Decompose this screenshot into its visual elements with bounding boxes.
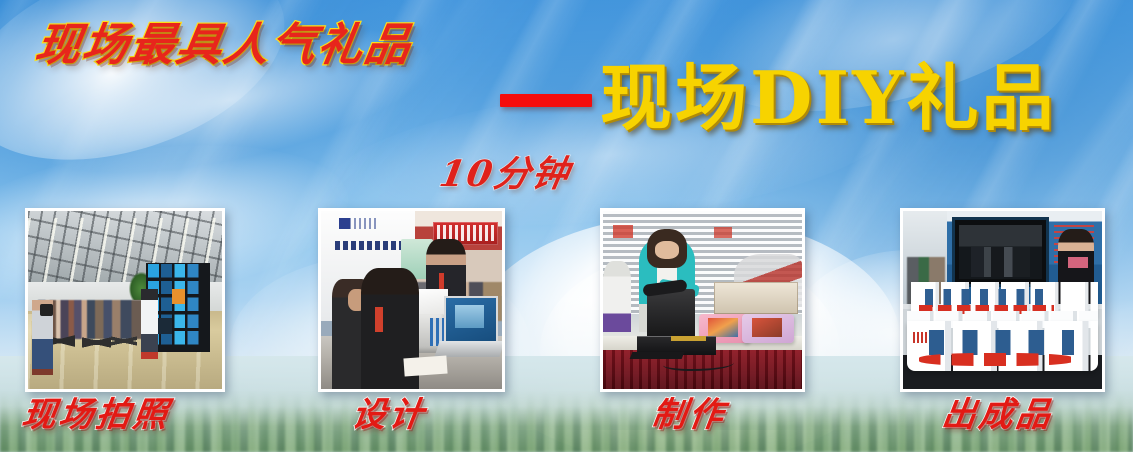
photo-inner	[321, 211, 502, 389]
tv-screen-people	[971, 247, 1031, 277]
tripod-2	[82, 314, 111, 371]
operator-face	[655, 241, 679, 259]
production-photo	[600, 208, 805, 392]
step-caption-production: 制作	[650, 398, 729, 432]
heat-press-body	[647, 289, 695, 339]
mug-red-graphic-front	[919, 353, 1074, 365]
step-caption-design: 设计	[350, 398, 429, 432]
step-caption-photography: 现场拍照	[20, 398, 173, 432]
bystander	[603, 261, 631, 332]
finished-product-photo	[900, 208, 1105, 392]
photo-inner	[28, 211, 222, 389]
mug-portraits-front	[923, 330, 1074, 355]
display-boards	[714, 282, 798, 314]
desk-paper	[404, 355, 449, 376]
laptop-keyboard	[434, 341, 502, 357]
booth-logo-icon	[339, 218, 379, 229]
red-signage-left	[613, 225, 633, 237]
main-title-text: 现场DIY礼品	[600, 62, 1057, 134]
printed-pillow-purple-artwork	[752, 318, 782, 338]
laptop-screen-image	[455, 305, 484, 328]
printed-pillow-pink-artwork	[708, 318, 738, 338]
subtitle-duration-text: 10分钟	[437, 156, 573, 192]
red-dash-icon	[500, 94, 592, 107]
hostess-scarf	[1068, 257, 1088, 268]
design-photo	[318, 208, 505, 392]
tripod-3	[111, 314, 136, 367]
booth-wall-caption	[335, 241, 400, 250]
photo-display-tile-dark	[156, 318, 172, 334]
red-signage-right	[714, 227, 732, 238]
heat-press-trim	[671, 336, 707, 341]
photo-inner	[603, 211, 802, 389]
promotional-banner: 现场最具人气礼品 现场DIY礼品 10分钟	[0, 0, 1133, 452]
photo-inner	[903, 211, 1102, 389]
headline-text: 现场最具人气礼品	[32, 22, 415, 67]
staff-in-white-coat	[141, 289, 158, 357]
on-site-photography-photo	[25, 208, 225, 392]
staff-red-shoes	[141, 352, 158, 359]
camera-icon	[40, 304, 54, 316]
photo-display-tile-orange	[172, 289, 186, 303]
staff-lanyard-1	[375, 307, 382, 332]
step-caption-finished: 出成品	[940, 398, 1056, 432]
